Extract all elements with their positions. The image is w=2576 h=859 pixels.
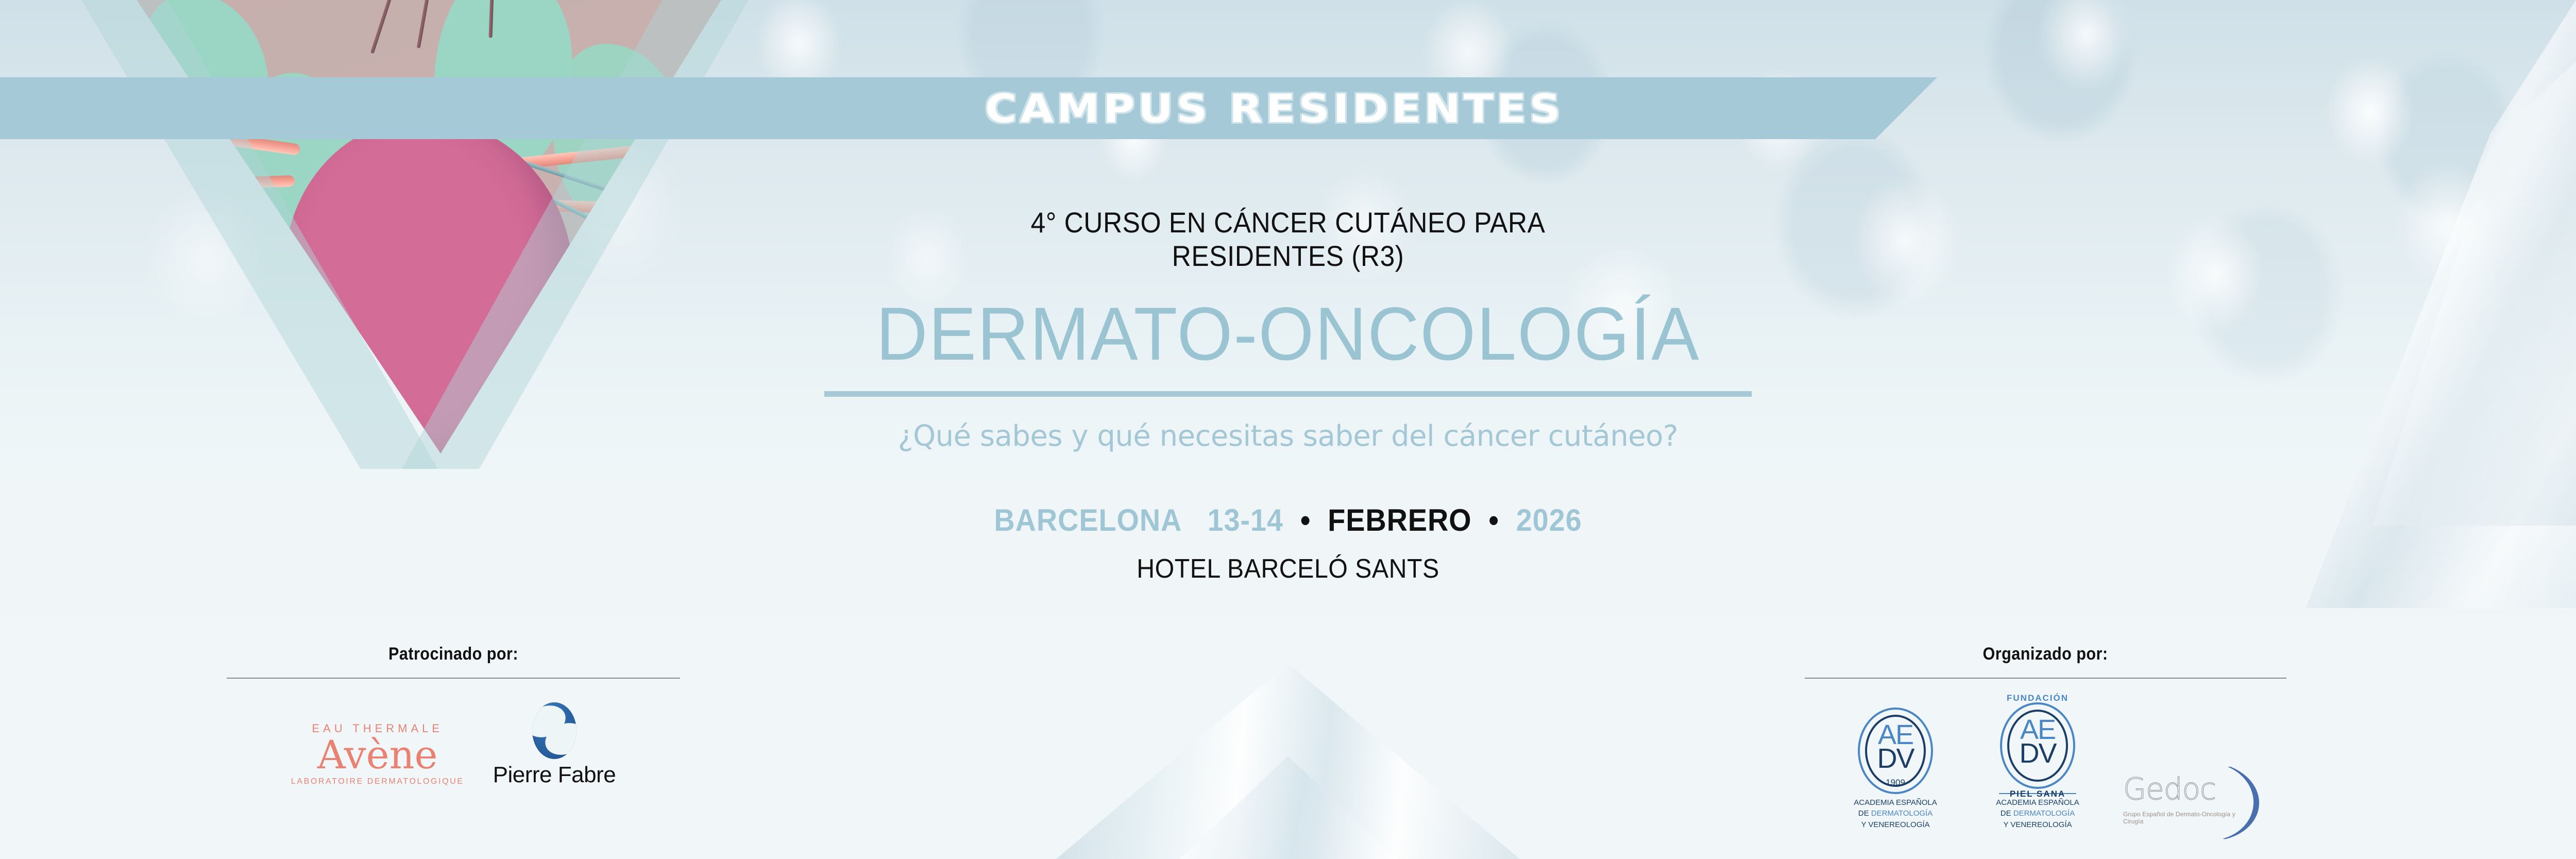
aedv-subtitle-de: DE <box>1858 809 1871 818</box>
aedv-subtitle-dermatologia: DERMATOLOGÍA <box>1871 809 1933 818</box>
sponsors-divider <box>227 678 680 679</box>
banner-main-content: 4° CURSO EN CÁNCER CUTÁNEO PARA RESIDENT… <box>659 206 1917 584</box>
pierre-fabre-logo[interactable]: Pierre Fabre <box>493 702 616 788</box>
aedv-logo[interactable]: AE DV 1909 ACADEMIA ESPAÑOLA DE DERMATOL… <box>1839 708 1952 830</box>
fundacion-subtitle-line-3: Y VENEREOLOGÍA <box>1981 819 2094 830</box>
organizers-divider <box>1805 678 2286 679</box>
sponsors-logo-row: EAU THERMALE Avène LABORATOIRE DERMATOLO… <box>222 702 685 788</box>
fundacion-aedv-seal-icon: FUNDACIÓN AE DV PIEL SANA <box>2000 702 2075 789</box>
course-title-line-1: 4° CURSO EN CÁNCER CUTÁNEO PARA <box>710 206 1867 240</box>
organizers-block: Organizado por: AE DV 1909 ACADEMIA ESPA… <box>1803 644 2287 830</box>
avene-logo[interactable]: EAU THERMALE Avène LABORATOIRE DERMATOLO… <box>291 723 464 788</box>
date-separator-icon: • <box>1300 503 1311 537</box>
avene-logo-tagline-bottom: LABORATOIRE DERMATOLOGIQUE <box>291 778 464 786</box>
organizers-caption: Organizado por: <box>1827 644 2263 664</box>
fundacion-subtitle-de: DE <box>2001 809 2013 818</box>
fundacion-subtitle-line-2: DE DERMATOLOGÍA <box>1981 808 2094 819</box>
ribbon-label: CAMPUS RESIDENTES <box>373 86 1564 131</box>
fundacion-subtitle-dermatologia: DERMATOLOGÍA <box>2013 809 2075 818</box>
sponsors-block: Patrocinado por: EAU THERMALE Avène LABO… <box>222 644 685 788</box>
aedv-founding-year: 1909 <box>1858 778 1933 788</box>
fundacion-subtitle: ACADEMIA ESPAÑOLA DE DERMATOLOGÍA Y VENE… <box>1981 797 2094 830</box>
pierre-fabre-wordmark: Pierre Fabre <box>493 762 616 788</box>
aedv-subtitle: ACADEMIA ESPAÑOLA DE DERMATOLOGÍA Y VENE… <box>1839 797 1952 830</box>
fundacion-aedv-piel-sana-logo[interactable]: FUNDACIÓN AE DV PIEL SANA ACADEMIA ESPAÑ… <box>1981 702 2094 830</box>
gedoc-logo[interactable]: Gedoc Grupo Español de Dermato-Oncología… <box>2123 771 2252 830</box>
course-title-line-2: RESIDENTES (R3) <box>710 240 1867 273</box>
aedv-subtitle-line-3: Y VENEREOLOGÍA <box>1839 819 1952 830</box>
campus-residentes-ribbon: CAMPUS RESIDENTES <box>0 77 1937 139</box>
aedv-seal-icon: AE DV 1909 <box>1858 708 1933 794</box>
aedv-subtitle-line-1: ACADEMIA ESPAÑOLA <box>1839 797 1952 808</box>
tagline: ¿Qué sabes y qué necesitas saber del cán… <box>659 419 1917 453</box>
event-dateline: BARCELONA 13-14 • FEBRERO • 2026 <box>703 502 1872 538</box>
event-banner: CAMPUS RESIDENTES 4° CURSO EN CÁNCER CUT… <box>0 0 2576 859</box>
aedv-subtitle-line-2: DE DERMATOLOGÍA <box>1839 808 1952 819</box>
date-separator-icon: • <box>1488 503 1499 537</box>
event-venue: HOTEL BARCELÓ SANTS <box>703 553 1872 584</box>
fundacion-arc-bottom-label: PIEL SANA <box>2000 789 2075 799</box>
fundacion-monogram-bottom: DV <box>2000 737 2075 769</box>
organizers-logo-row: AE DV 1909 ACADEMIA ESPAÑOLA DE DERMATOL… <box>1803 702 2287 830</box>
event-year: 2026 <box>1516 503 1582 537</box>
title-underline-rule <box>824 391 1752 397</box>
fundacion-arc-top-label: FUNDACIÓN <box>2000 693 2075 703</box>
avene-logo-wordmark: Avène <box>291 735 464 774</box>
pierre-fabre-mark-icon <box>532 702 577 759</box>
sponsors-caption: Patrocinado por: <box>245 644 662 664</box>
event-month: FEBRERO <box>1328 503 1471 537</box>
aedv-monogram-bottom: DV <box>1858 743 1933 774</box>
event-days: 13-14 <box>1208 503 1283 537</box>
event-city: BARCELONA <box>994 503 1182 537</box>
page-title: DERMATO-ONCOLOGÍA <box>691 296 1885 373</box>
